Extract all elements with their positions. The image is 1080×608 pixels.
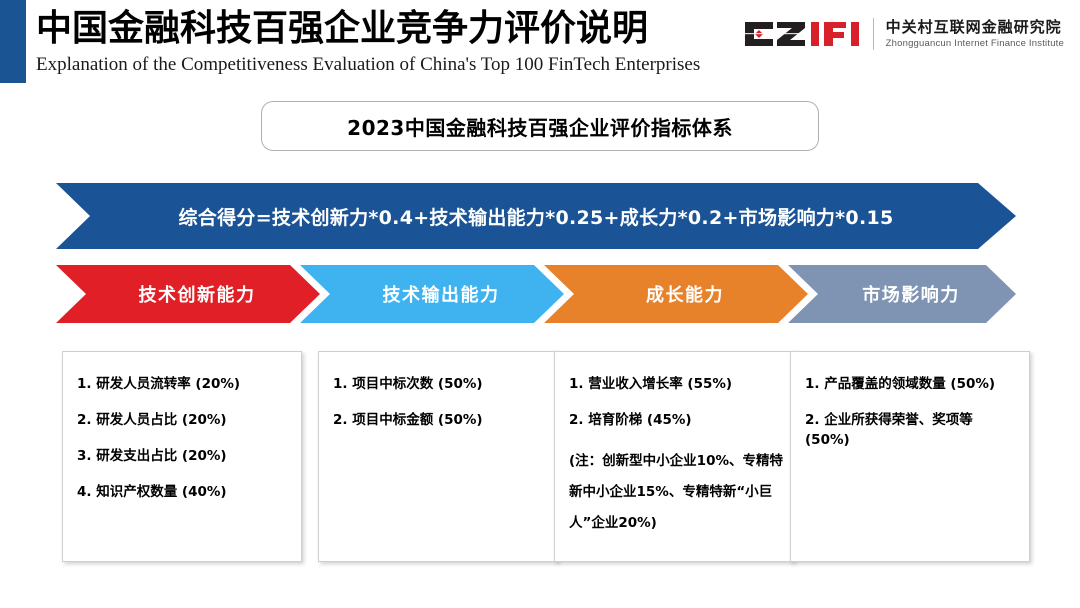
page-title-cn: 中国金融科技百强企业竞争力评价说明 — [36, 6, 736, 50]
header-accent-bar — [0, 0, 26, 83]
category-label-3: 成长能力 — [628, 281, 724, 307]
indicator-item-note: (注：创新型中小企业10%、专精特新中小企业15%、专精特新“小巨人”企业20%… — [569, 446, 783, 539]
logo-divider — [873, 18, 874, 50]
indicator-item: 2. 培育阶梯 (45%) — [569, 410, 783, 430]
indicator-item: 3. 研发支出占比 (20%) — [77, 446, 291, 466]
score-formula-banner: 综合得分=技术创新力*0.4+技术输出能力*0.25+成长力*0.2+市场影响力… — [56, 183, 1016, 249]
czifi-logomark-icon — [743, 19, 873, 49]
indicator-item: 2. 项目中标金额 (50%) — [333, 410, 547, 430]
indicator-item: 4. 知识产权数量 (40%) — [77, 482, 291, 502]
page-title-en: Explanation of the Competitiveness Evalu… — [36, 52, 736, 78]
slide-canvas: 中国金融科技百强企业竞争力评价说明 Explanation of the Com… — [0, 0, 1080, 608]
indicator-item: 1. 研发人员流转率 (20%) — [77, 374, 291, 394]
indicator-item: 1. 项目中标次数 (50%) — [333, 374, 547, 394]
indicator-system-title: 2023中国金融科技百强企业评价指标体系 — [347, 112, 733, 141]
logo-name-cn: 中关村互联网金融研究院 — [886, 18, 1064, 37]
indicator-card-growth: 1. 营业收入增长率 (55%) 2. 培育阶梯 (45%) (注：创新型中小企… — [554, 351, 794, 562]
header-text-block: 中国金融科技百强企业竞争力评价说明 Explanation of the Com… — [36, 6, 736, 78]
category-chevron-row: 技术创新能力 技术输出能力 成长能力 市场影响力 — [0, 265, 1080, 323]
category-chevron-tech-output: 技术输出能力 — [300, 265, 564, 323]
indicator-card-tech-output: 1. 项目中标次数 (50%) 2. 项目中标金额 (50%) — [318, 351, 558, 562]
category-chevron-growth: 成长能力 — [544, 265, 808, 323]
logo-text-block: 中关村互联网金融研究院 Zhongguancun Internet Financ… — [886, 18, 1064, 51]
logo-name-en: Zhongguancun Internet Finance Institute — [886, 37, 1064, 51]
category-label-2: 技术输出能力 — [365, 281, 500, 307]
category-chevron-market-influence: 市场影响力 — [788, 265, 1016, 323]
indicator-card-market-influence: 1. 产品覆盖的领域数量 (50%) 2. 企业所获得荣誉、奖项等 (50%) — [790, 351, 1030, 562]
indicator-item: 2. 企业所获得荣誉、奖项等 (50%) — [805, 410, 1019, 450]
indicator-item: 2. 研发人员占比 (20%) — [77, 410, 291, 430]
indicator-card-tech-innovation: 1. 研发人员流转率 (20%) 2. 研发人员占比 (20%) 3. 研发支出… — [62, 351, 302, 562]
score-formula-text: 综合得分=技术创新力*0.4+技术输出能力*0.25+成长力*0.2+市场影响力… — [179, 203, 894, 230]
indicator-item: 1. 营业收入增长率 (55%) — [569, 374, 783, 394]
indicator-system-title-box: 2023中国金融科技百强企业评价指标体系 — [261, 101, 819, 151]
category-chevron-tech-innovation: 技术创新能力 — [56, 265, 320, 323]
category-label-1: 技术创新能力 — [121, 281, 256, 307]
indicator-card-row: 1. 研发人员流转率 (20%) 2. 研发人员占比 (20%) 3. 研发支出… — [0, 351, 1080, 566]
indicator-item: 1. 产品覆盖的领域数量 (50%) — [805, 374, 1019, 394]
institute-logo: 中关村互联网金融研究院 Zhongguancun Internet Financ… — [743, 12, 1064, 56]
category-label-4: 市场影响力 — [844, 281, 960, 307]
